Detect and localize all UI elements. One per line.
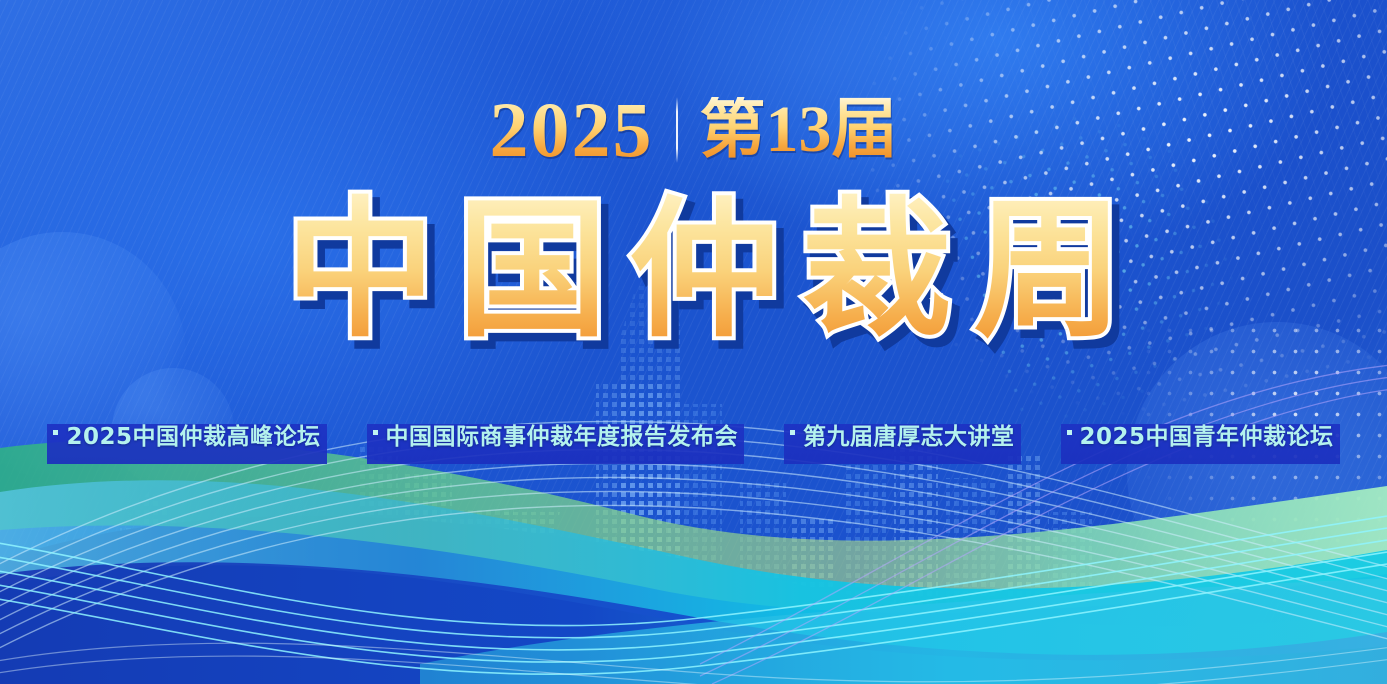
subtitle-item-label: 2025中国青年仲裁论坛	[1080, 417, 1334, 451]
year-edition-header: 2025 第13届	[0, 84, 1387, 176]
subtitle-item-annual-report[interactable]: 中国国际商事仲裁年度报告发布会	[359, 414, 753, 454]
subtitle-item-label: 2025中国仲裁高峰论坛	[66, 417, 320, 451]
bullet-icon	[1067, 430, 1072, 435]
subtitle-item-label: 第九届唐厚志大讲堂	[803, 417, 1015, 451]
subtitle-item-lecture-hall[interactable]: 第九届唐厚志大讲堂	[776, 414, 1029, 454]
page-title: 中国仲裁周 中国仲裁周 中国仲裁周	[0, 196, 1387, 346]
bullet-icon	[790, 430, 795, 435]
subtitle-item-label: 中国国际商事仲裁年度报告发布会	[386, 417, 739, 451]
subtitle-item-summit-forum[interactable]: 2025中国仲裁高峰论坛	[39, 414, 334, 454]
arbitration-week-banner: 2025 第13届 中国仲裁周 中国仲裁周 中国仲裁周 2025中国仲裁高峰论坛…	[0, 0, 1387, 684]
title-fill-layer: 中国仲裁周	[285, 184, 1145, 358]
edition-label: 第13届	[700, 97, 898, 163]
bullet-icon	[53, 430, 58, 435]
subtitle-item-youth-forum[interactable]: 2025中国青年仲裁论坛	[1053, 414, 1348, 454]
banner-content: 2025 第13届 中国仲裁周 中国仲裁周 中国仲裁周 2025中国仲裁高峰论坛…	[0, 0, 1387, 684]
header-divider	[676, 97, 678, 163]
year-label: 2025	[490, 91, 654, 169]
bullet-icon	[373, 430, 378, 435]
subtitle-list: 2025中国仲裁高峰论坛 中国国际商事仲裁年度报告发布会 第九届唐厚志大讲堂 2…	[0, 414, 1387, 454]
